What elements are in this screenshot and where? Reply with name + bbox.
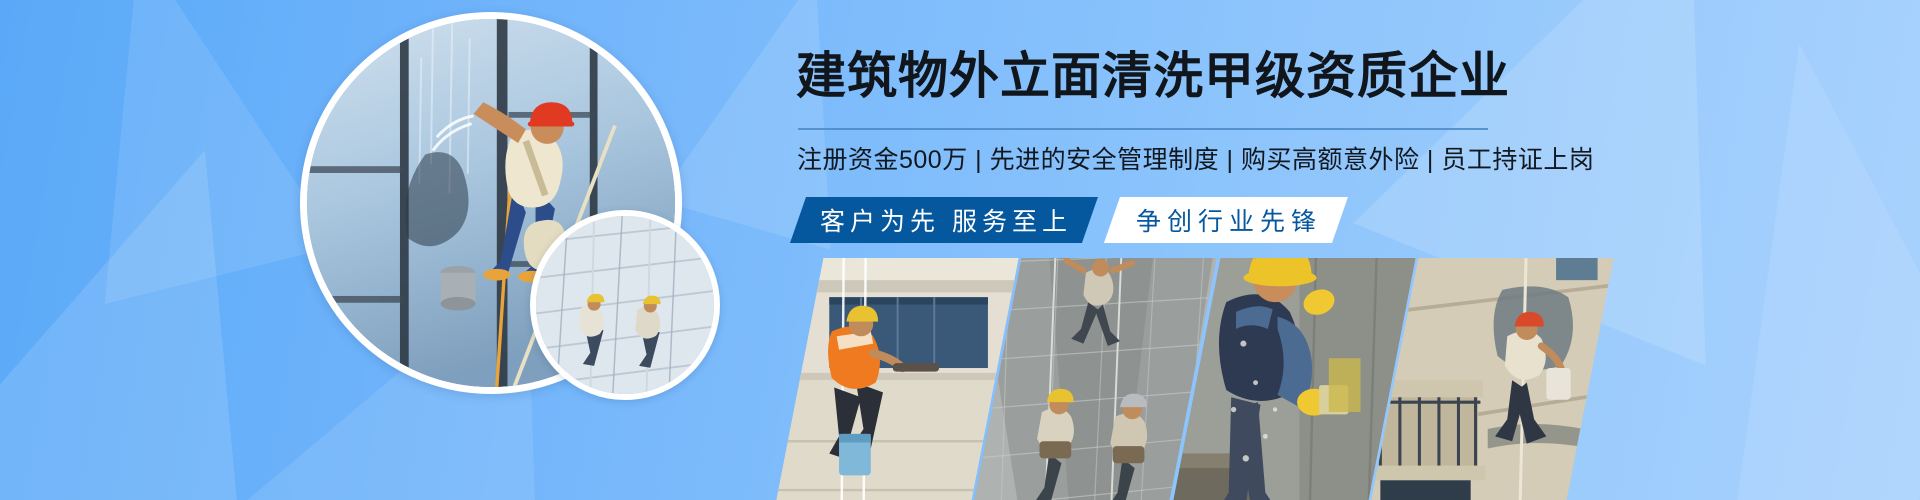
title-underline [798,128,1488,130]
circle-photo-small [530,210,720,400]
slogan-primary: 客户为先 服务至上 [790,197,1098,243]
promo-banner: 建筑物外立面清洗甲级资质企业 注册资金500万 | 先进的安全管理制度 | 购买… [0,0,1920,500]
subtitle-features: 注册资金500万 | 先进的安全管理制度 | 购买高额意外险 | 员工持证上岗 [797,140,1617,176]
photo-strip [800,258,1590,500]
photo-workers-on-white-facade [536,216,714,394]
background-triangle-5 [1651,18,1920,500]
slogan-bar: 客户为先 服务至上 争创行业先锋 [790,197,1348,243]
page-title: 建筑物外立面清洗甲级资质企业 [796,48,1596,106]
slogan-secondary: 争创行业先锋 [1104,197,1348,243]
